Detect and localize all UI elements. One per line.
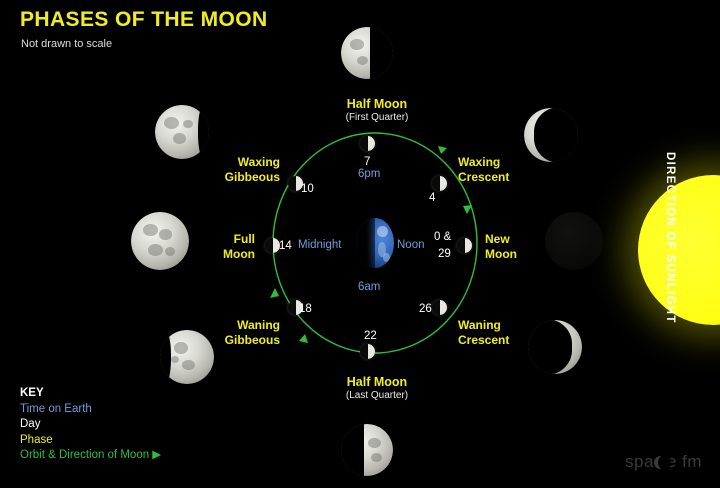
phase-word-2: Gibbeous [225, 333, 280, 347]
phase-label-waxing-gibbeous: Waxing Gibbeous [180, 155, 280, 185]
photo-moon-full [131, 212, 189, 270]
phase-word-1: Waning [458, 318, 501, 332]
phase-name: Half Moon [297, 375, 457, 389]
day-number-4: 4 [429, 192, 435, 204]
day-number-22: 22 [364, 330, 377, 342]
phase-label-half-moon-first-quarter: Half Moon (First Quarter) [297, 97, 457, 123]
orbit-moon-day-0-29 [457, 238, 472, 253]
photo-moon-new [545, 212, 603, 270]
photo-moon-first-quarter [341, 27, 393, 79]
photo-moon-last-quarter [341, 424, 393, 476]
phase-sub: (First Quarter) [297, 112, 457, 123]
phase-word-2: Moon [485, 247, 517, 261]
moon-phases-diagram: PHASES OF THE MOON Not drawn to scale DI… [0, 0, 720, 488]
orbit-moon-day-7 [360, 136, 375, 151]
time-label-noon: Noon [397, 239, 425, 251]
day-number-29: 29 [438, 248, 451, 260]
logo-text-pre: spa [625, 452, 654, 471]
day-number-14: 14 [279, 240, 292, 252]
orbit-moon-day-14 [265, 238, 280, 253]
orbit-moon-day-4 [432, 176, 447, 191]
time-label-6am: 6am [358, 281, 380, 293]
phase-word-1: New [485, 232, 510, 246]
time-label-6pm: 6pm [358, 168, 380, 180]
phase-label-full-moon: Full Moon [180, 232, 255, 262]
key-item-orbit: Orbit & Direction of Moon ▶ [20, 448, 161, 464]
phase-word-1: Waxing [458, 155, 500, 169]
photo-moon-waning-crescent [528, 320, 582, 374]
key-legend: KEY Time on Earth Day Phase Orbit & Dire… [20, 386, 161, 464]
phase-label-half-moon-last-quarter: Half Moon (Last Quarter) [297, 375, 457, 401]
orbit-moon-day-22 [360, 344, 375, 359]
photo-moon-waning-gibbeous [160, 330, 214, 384]
day-number-18: 18 [299, 303, 312, 315]
phase-word-2: Gibbeous [225, 170, 280, 184]
photo-moon-waxing-crescent [524, 108, 578, 162]
day-number-7: 7 [364, 156, 370, 168]
day-number-26: 26 [419, 303, 432, 315]
phase-word-2: Crescent [458, 333, 509, 347]
photo-moon-waxing-gibbeous [155, 105, 209, 159]
key-heading: KEY [20, 386, 161, 402]
day-number-10: 10 [301, 183, 314, 195]
crescent-moon-icon [654, 456, 667, 469]
key-item-day: Day [20, 417, 161, 433]
key-item-time: Time on Earth [20, 402, 161, 418]
day-number-0: 0 & [434, 231, 451, 243]
earth-globe [356, 218, 394, 268]
phase-name: Half Moon [297, 97, 457, 111]
phase-sub: (Last Quarter) [297, 390, 457, 401]
phase-word-1: Waxing [238, 155, 280, 169]
phase-word-2: Crescent [458, 170, 509, 184]
key-item-phase: Phase [20, 433, 161, 449]
phase-word-1: Waning [237, 318, 280, 332]
orbit-moon-day-26 [432, 300, 447, 315]
spacefm-logo: spae fm [625, 452, 702, 472]
phase-word-1: Full [234, 232, 255, 246]
phase-word-2: Moon [223, 247, 255, 261]
time-label-midnight: Midnight [298, 239, 341, 251]
logo-text-post: e fm [667, 452, 702, 471]
